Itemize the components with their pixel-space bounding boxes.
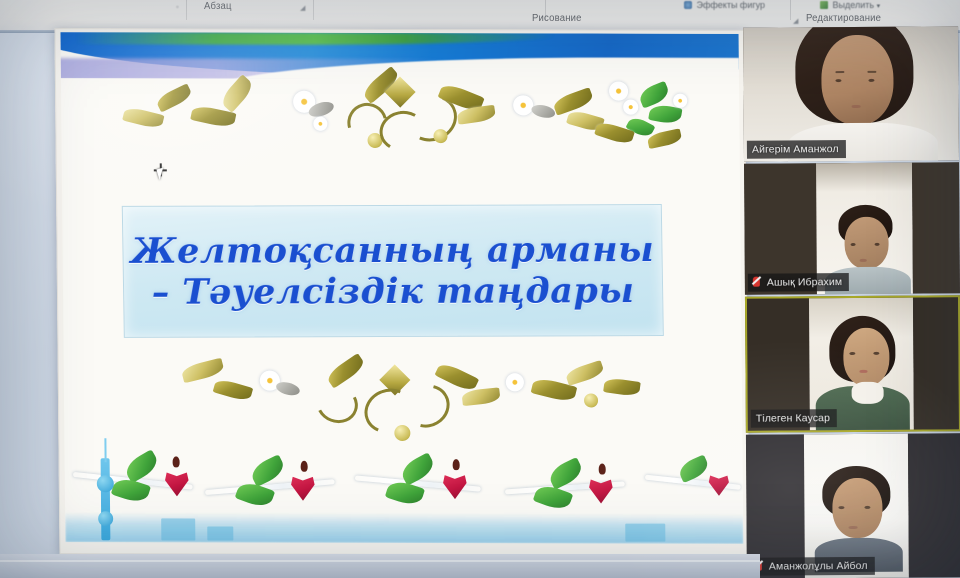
slide-title: Желтоқсанның арманы – Тәуелсіздік таңдар… — [123, 205, 663, 337]
shape-effects-button[interactable]: Эффекты фигур — [684, 0, 765, 10]
video-tile[interactable]: Аманжолұлы Айбол — [746, 433, 960, 578]
city-skyline — [65, 478, 744, 544]
video-participants-panel: Айгерім Аманжол Ашық Ибрахим — [743, 26, 960, 578]
participant-name-label: Ашық Ибрахим — [748, 273, 849, 292]
select-icon — [820, 1, 828, 9]
paragraph-dialog-launcher[interactable]: ▫ — [176, 4, 178, 11]
monitor-bottom-bezel — [0, 554, 760, 578]
move-cursor-icon — [154, 163, 174, 185]
video-tile[interactable]: Айгерім Аманжол — [743, 26, 959, 161]
slide-canvas[interactable]: Желтоқсанның арманы – Тәуелсіздік таңдар… — [54, 28, 749, 556]
editing-expand-icon[interactable]: ◢ — [793, 17, 798, 25]
slide-header-banner — [60, 32, 738, 80]
shape-effects-icon — [684, 1, 692, 9]
ribbon-group-editing: Редактирование — [806, 13, 881, 25]
video-tile-active-speaker[interactable]: Тілеген Каусар — [745, 295, 960, 432]
ribbon-group-paragraph: Абзац — [204, 1, 232, 13]
slide-content: Желтоқсанның арманы – Тәуелсіздік таңдар… — [60, 32, 743, 544]
participant-name-label: Аманжолұлы Айбол — [750, 557, 875, 576]
video-tile[interactable]: Ашық Ибрахим — [744, 162, 960, 294]
mic-muted-icon — [753, 277, 760, 287]
slide-title-line2: – Тәуелсіздік таңдары — [151, 270, 634, 313]
participant-name-label: Айгерім Аманжол — [747, 140, 846, 159]
slide-title-box[interactable]: Желтоқсанның арманы – Тәуелсіздік таңдар… — [122, 204, 664, 338]
paragraph-expand-icon[interactable]: ◢ — [300, 4, 305, 12]
slide-title-line1: Желтоқсанның арманы — [130, 229, 654, 272]
participant-name-label: Тілеген Каусар — [751, 409, 837, 428]
ribbon-group-drawing: Рисование — [532, 13, 582, 25]
select-button[interactable]: Выделить ▾ — [820, 0, 880, 10]
monitor-screen: ▫ Абзац ◢ Рисование Эффекты фигур Выдели… — [0, 0, 960, 578]
screenshot-root: ▫ Абзац ◢ Рисование Эффекты фигур Выдели… — [0, 0, 960, 578]
